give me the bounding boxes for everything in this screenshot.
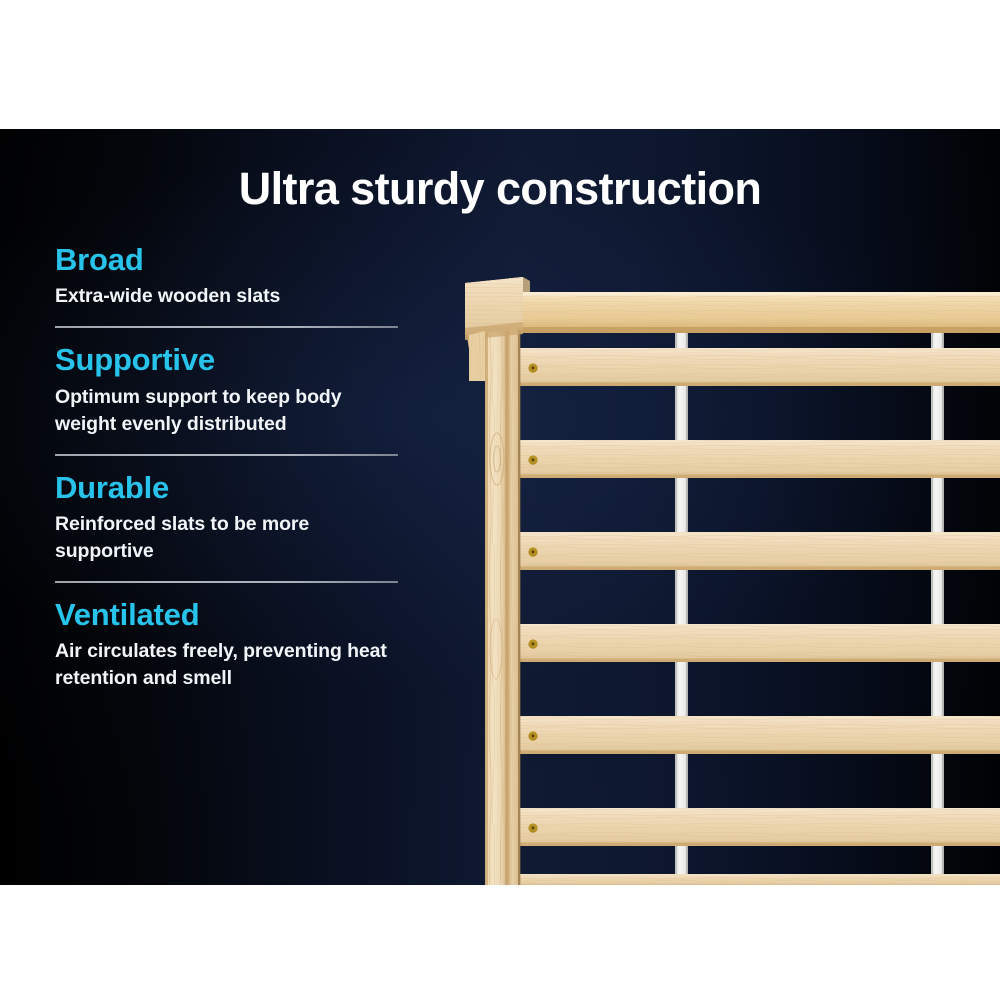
bed-post-overlay bbox=[465, 277, 523, 885]
feature-description: Extra-wide wooden slats bbox=[55, 283, 400, 310]
slat-strap bbox=[931, 333, 944, 885]
feature-title: Broad bbox=[55, 243, 400, 276]
feature-description: Optimum support to keep body weight even… bbox=[55, 384, 400, 438]
feature-item-broad: Broad Extra-wide wooden slats bbox=[55, 243, 400, 328]
feature-title: Ventilated bbox=[55, 598, 400, 631]
bed-slat-overlay bbox=[518, 348, 1000, 885]
feature-description: Reinforced slats to be more supportive bbox=[55, 511, 400, 565]
feature-divider bbox=[55, 454, 398, 456]
feature-item-durable: Durable Reinforced slats to be more supp… bbox=[55, 471, 400, 583]
bed-frame-illustration bbox=[455, 129, 1000, 885]
feature-item-ventilated: Ventilated Air circulates freely, preven… bbox=[55, 598, 400, 692]
bed-frame-svg bbox=[455, 129, 1000, 885]
product-infographic: Ultra sturdy construction Broad Extra-wi… bbox=[0, 0, 1000, 1000]
feature-title: Supportive bbox=[55, 343, 400, 376]
feature-divider bbox=[55, 326, 398, 328]
feature-item-supportive: Supportive Optimum support to keep body … bbox=[55, 343, 400, 455]
bed-slat-group bbox=[518, 348, 1000, 885]
slat-strap bbox=[675, 333, 688, 885]
bed-top-rail-overlay bbox=[517, 292, 1000, 333]
feature-list: Broad Extra-wide wooden slats Supportive… bbox=[55, 243, 400, 692]
feature-description: Air circulates freely, preventing heat r… bbox=[55, 638, 400, 692]
feature-divider bbox=[55, 581, 398, 583]
feature-title: Durable bbox=[55, 471, 400, 504]
bed-slat-straps bbox=[517, 333, 944, 885]
page-title: Ultra sturdy construction bbox=[0, 166, 1000, 211]
